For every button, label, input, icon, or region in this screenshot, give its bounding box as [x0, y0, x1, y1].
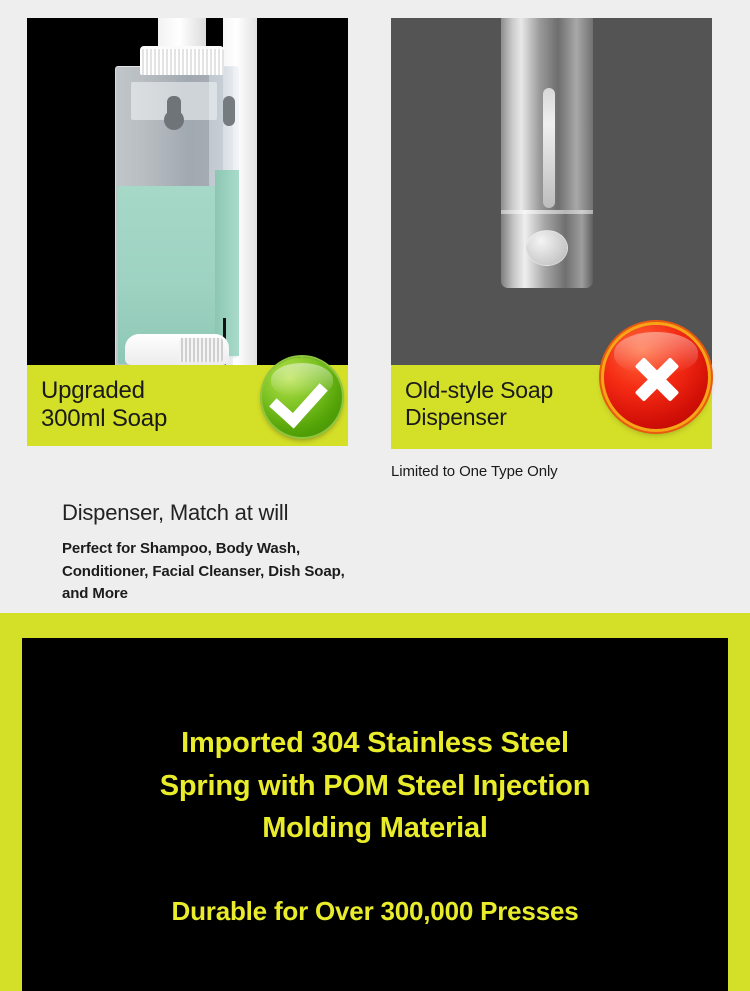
- x-badge-icon: [604, 325, 708, 429]
- keyhole-slot-icon: [167, 96, 181, 128]
- pump-ridges: [179, 338, 223, 362]
- sub-note-old-style: Limited to One Type Only: [391, 463, 712, 480]
- keyhole-slot-secondary-icon: [223, 96, 235, 126]
- dispenser-cap: [140, 46, 224, 75]
- cylinder-highlight: [543, 88, 555, 208]
- soap-liquid-side: [215, 170, 239, 356]
- x-mark-icon: [635, 357, 680, 402]
- check-badge-icon: [262, 357, 342, 437]
- label-band-old-style: Old-style Soap Dispenser: [391, 365, 712, 449]
- caption-body: Perfect for Shampoo, Body Wash, Conditio…: [62, 538, 372, 606]
- banner-subline: Durable for Over 300,000 Presses: [22, 896, 728, 927]
- product-photo-old-style: [391, 18, 712, 365]
- label-band-upgraded: Upgraded 300ml Soap: [27, 365, 348, 446]
- comparison-panel-bad: Old-style Soap Dispenser Limited to One …: [391, 18, 712, 480]
- check-mark-icon: [269, 369, 328, 429]
- banner-headline: Imported 304 Stainless Steel Spring with…: [22, 722, 728, 850]
- product-photo-upgraded: [27, 18, 348, 365]
- feature-banner-inner: Imported 304 Stainless Steel Spring with…: [22, 638, 728, 991]
- feature-banner: Imported 304 Stainless Steel Spring with…: [0, 613, 750, 991]
- dispenser-neck: [158, 18, 206, 48]
- comparison-panel-good: Upgraded 300ml Soap Dispenser, Match at …: [27, 18, 348, 446]
- cylinder-push-button: [526, 230, 568, 266]
- caption-title: Dispenser, Match at will: [62, 500, 288, 526]
- comparison-section: Upgraded 300ml Soap Dispenser, Match at …: [0, 0, 750, 613]
